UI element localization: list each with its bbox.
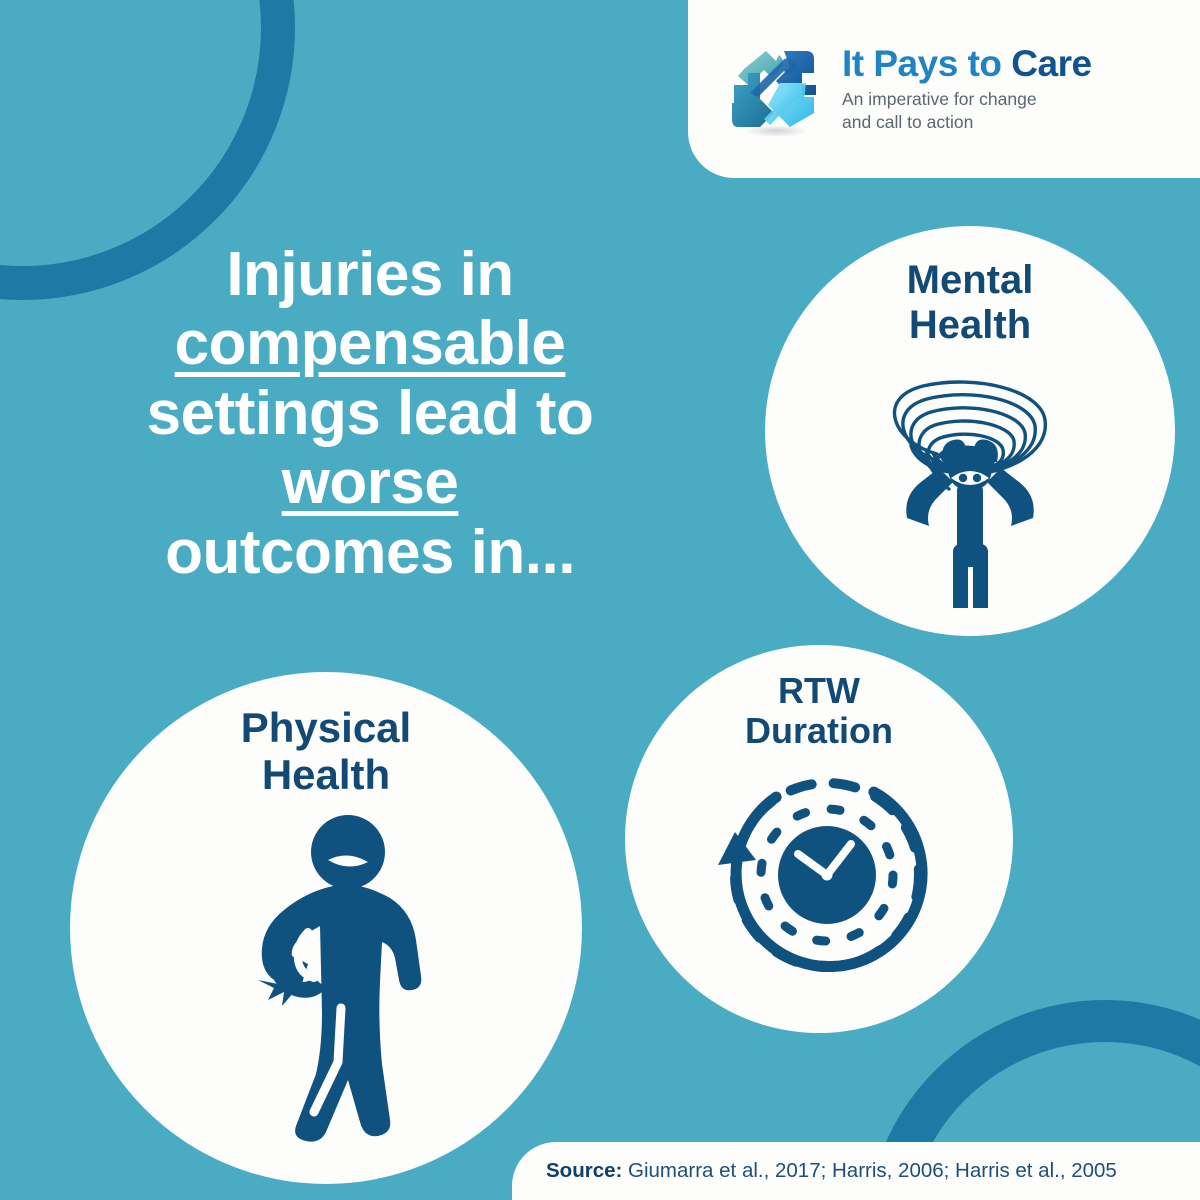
brand-tagline: An imperative for change and call to act… [842, 88, 1092, 134]
headline-emphasis-worse: worse [282, 448, 459, 517]
it-pays-to-care-puzzle-logo-icon [724, 39, 824, 139]
source-label: Source: [546, 1159, 622, 1182]
bubble-physical-health[interactable]: Physical Health [70, 672, 582, 1184]
source-footer-card: Source: Giumarra et al., 2017; Harris, 2… [512, 1142, 1200, 1200]
headline-emphasis-compensable: compensable [175, 309, 566, 378]
infographic-canvas: It Pays to Care An imperative for change… [0, 0, 1200, 1200]
headline-line-2: settings lead to [147, 379, 594, 448]
person-with-back-pain-icon [196, 812, 456, 1142]
headline: Injuries in compensable settings lead to… [40, 240, 700, 587]
headline-line-1: Injuries in [226, 240, 513, 309]
brand-text-block: It Pays to Care An imperative for change… [842, 43, 1092, 134]
bubble-mental-health[interactable]: Mental Health [765, 226, 1175, 636]
bubble-physical-health-label: Physical Health [241, 704, 411, 798]
stressed-person-head-in-hands-icon [845, 358, 1095, 608]
brand-logo-card: It Pays to Care An imperative for change… [688, 0, 1200, 178]
brand-title: It Pays to Care [842, 45, 1092, 84]
bubble-rtw-duration[interactable]: RTW Duration [625, 645, 1013, 1033]
headline-line-3: outcomes in... [165, 518, 575, 587]
brand-title-part1: It Pays to [842, 43, 1011, 84]
source-references: Giumarra et al., 2017; Harris, 2006; Har… [622, 1159, 1117, 1182]
bubble-mental-health-label: Mental Health [907, 258, 1034, 348]
clock-with-arrow-icon [694, 760, 944, 990]
bubble-rtw-duration-label: RTW Duration [745, 671, 893, 752]
source-citation: Source: Giumarra et al., 2017; Harris, 2… [546, 1159, 1117, 1183]
brand-title-part2: Care [1011, 43, 1091, 84]
